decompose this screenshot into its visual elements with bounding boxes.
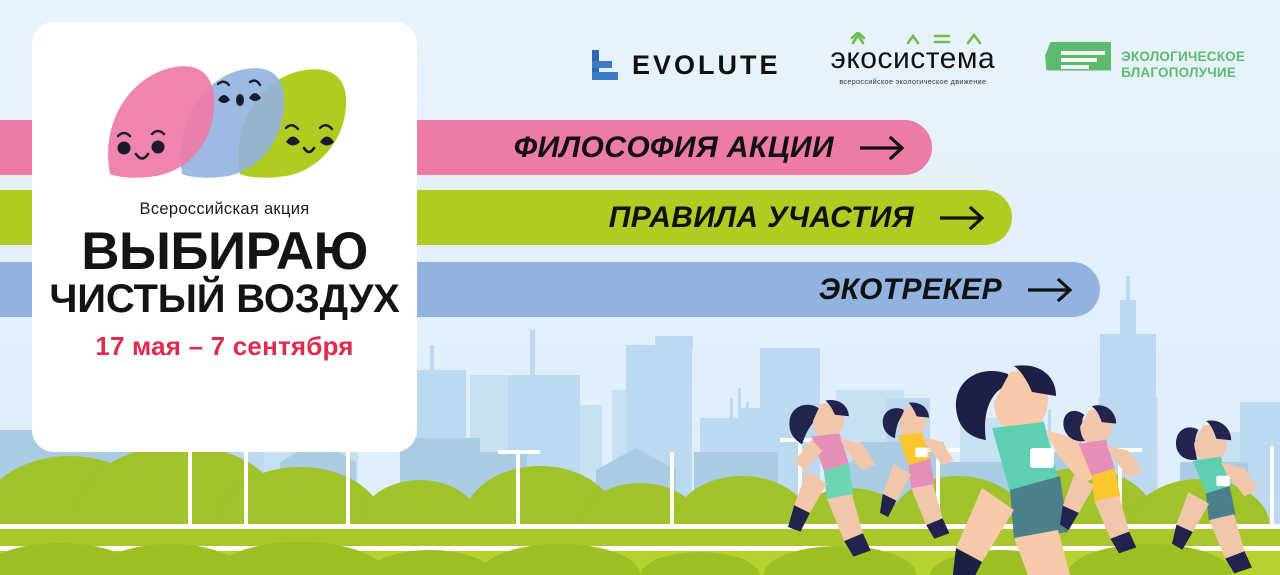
partner-logo-ekosistema[interactable]: экосистема всероссийское экологическое д… xyxy=(831,44,996,86)
track-band xyxy=(0,529,1280,546)
ekosistema-wordmark-wrap: экосистема xyxy=(831,44,996,74)
partner-logo-national-projects[interactable]: ЭКОЛОГИЧЕСКОЕ БЛАГОПОЛУЧИЕ xyxy=(1045,42,1245,88)
arrow-right-icon xyxy=(940,206,986,230)
partner-logos: EVOLUTE экосистема в xyxy=(592,42,1245,88)
arrow-right-icon xyxy=(1028,278,1074,302)
national-projects-flag-icon xyxy=(1045,42,1111,88)
partner-logo-evolute[interactable]: EVOLUTE xyxy=(592,50,781,81)
evolute-wordmark: EVOLUTE xyxy=(632,50,781,81)
national-projects-line2: БЛАГОПОЛУЧИЕ xyxy=(1121,65,1236,80)
mascot-group xyxy=(90,62,360,182)
evolute-e-mark-icon xyxy=(592,50,618,80)
ekosistema-subtitle: всероссийское экологическое движение xyxy=(839,77,986,86)
card-kicker: Всероссийская акция xyxy=(140,200,310,219)
ekosistema-word: экосистема xyxy=(831,42,996,75)
promo-banner: ФИЛОСОФИЯ АКЦИИ ПРАВИЛА УЧАСТИЯ ЭКОТРЕКЕ… xyxy=(0,0,1280,575)
card-title-line1: ВЫБИРАЮ xyxy=(81,227,367,277)
card-title-line2: ЧИСТЫЙ ВОЗДУХ xyxy=(49,279,399,319)
nav-button-ecotracker-label: ЭКОТРЕКЕР xyxy=(819,273,1002,307)
arrow-right-icon xyxy=(860,136,906,160)
campaign-card: Всероссийская акция ВЫБИРАЮ ЧИСТЫЙ ВОЗДУ… xyxy=(32,22,417,452)
nav-button-rules-label: ПРАВИЛА УЧАСТИЯ xyxy=(609,201,914,235)
national-projects-line1: ЭКОЛОГИЧЕСКОЕ xyxy=(1121,49,1245,64)
nav-button-philosophy-label: ФИЛОСОФИЯ АКЦИИ xyxy=(514,131,834,165)
ekosistema-accents-icon xyxy=(831,32,996,44)
card-dates: 17 мая – 7 сентября xyxy=(95,331,353,362)
track-rail-top xyxy=(0,524,1280,529)
national-projects-text: ЭКОЛОГИЧЕСКОЕ БЛАГОПОЛУЧИЕ xyxy=(1121,49,1245,81)
